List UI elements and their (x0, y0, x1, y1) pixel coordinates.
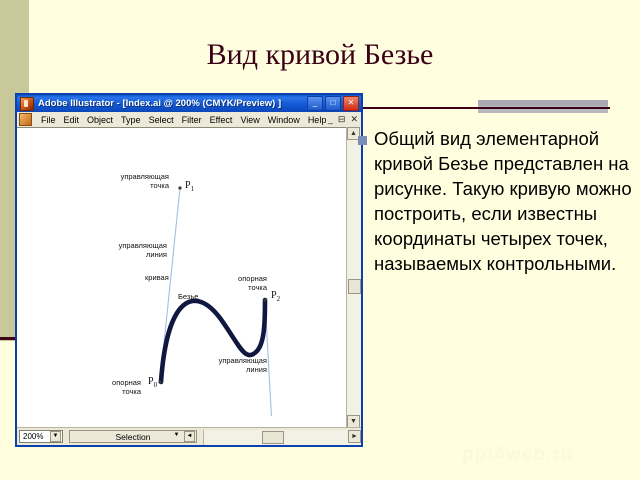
body-paragraph: Общий вид элементарной кривой Безье пред… (374, 126, 632, 276)
menu-item-window[interactable]: Window (264, 115, 304, 125)
menu-item-effect[interactable]: Effect (206, 115, 237, 125)
horizontal-scrollbar[interactable]: ► (203, 430, 361, 445)
maximize-button[interactable]: □ (325, 96, 341, 111)
menu-item-help[interactable]: Help (304, 115, 331, 125)
menu-bar: File Edit Object Type Select Filter Effe… (17, 112, 361, 128)
vertical-scroll-thumb[interactable] (348, 279, 361, 294)
tool-flyout-icon[interactable]: ◄ (184, 431, 195, 442)
window-titlebar[interactable]: Adobe Illustrator - [Index.ai @ 200% (CM… (17, 95, 361, 112)
mdi-restore-button[interactable]: ⊟ (338, 114, 346, 124)
minimize-button[interactable]: _ (307, 96, 323, 111)
menu-item-file[interactable]: File (37, 115, 60, 125)
label-control-line-2: управляющая линия (175, 356, 267, 374)
document-canvas[interactable]: управляющая точка P1 управляющая линия к… (17, 127, 361, 428)
label-anchor-point-0: опорная точка (79, 378, 141, 396)
menu-item-select[interactable]: Select (145, 115, 178, 125)
label-anchor-point-2: опорная точка (215, 274, 267, 292)
page-title: Вид кривой Безье (60, 38, 580, 72)
chevron-down-icon[interactable]: ▼ (50, 431, 61, 442)
scroll-right-arrow-icon[interactable]: ► (348, 430, 361, 443)
point-label-p1: P1 (185, 180, 194, 193)
menu-item-object[interactable]: Object (83, 115, 117, 125)
document-icon[interactable] (19, 113, 32, 126)
adobe-illustrator-window: Adobe Illustrator - [Index.ai @ 200% (CM… (15, 93, 363, 447)
illustrator-icon (20, 97, 34, 111)
anchor-point-p0-dot (158, 380, 161, 383)
menu-item-filter[interactable]: Filter (178, 115, 206, 125)
zoom-level-combobox[interactable]: 200% ▼ (19, 430, 63, 443)
point-label-p2: P2 (271, 290, 280, 303)
menu-item-view[interactable]: View (236, 115, 263, 125)
mdi-minimize-button[interactable]: _ (328, 114, 333, 124)
horizontal-scroll-thumb[interactable] (262, 431, 284, 444)
chevron-down-icon-tool[interactable]: ▼ (171, 431, 182, 442)
vertical-scrollbar[interactable]: ▲ ▼ (346, 127, 361, 428)
watermark: ppt4web.ru (462, 444, 594, 468)
mdi-window-controls: _ ⊟ ✕ (328, 114, 358, 124)
status-bar: 200% ▼ Selection ▼ ◄ ► (17, 427, 361, 445)
bullet-square-icon (358, 136, 367, 145)
window-controls: _ □ ✕ (307, 96, 359, 111)
window-title-text: Adobe Illustrator - [Index.ai @ 200% (CM… (38, 98, 281, 109)
mdi-close-button[interactable]: ✕ (350, 114, 358, 124)
label-curve-name-line1: кривая (145, 273, 169, 282)
anchor-point-p2-dot (263, 298, 266, 301)
zoom-level-value: 200% (21, 432, 43, 441)
menu-item-edit[interactable]: Edit (60, 115, 84, 125)
control-point-p1-dot (178, 186, 181, 189)
current-tool-value: Selection (116, 432, 151, 442)
point-label-p0: P0 (148, 376, 157, 389)
menu-item-type[interactable]: Type (117, 115, 145, 125)
current-tool-combobox[interactable]: Selection ▼ ◄ (69, 430, 197, 443)
artboard: управляющая точка P1 управляющая линия к… (17, 128, 347, 416)
header-horizontal-rule (360, 107, 610, 109)
label-control-line-1: управляющая линия (75, 241, 167, 259)
label-control-point-1: управляющая точка (77, 172, 169, 190)
close-button[interactable]: ✕ (343, 96, 359, 111)
label-curve-name-line2: Безье (178, 292, 198, 301)
